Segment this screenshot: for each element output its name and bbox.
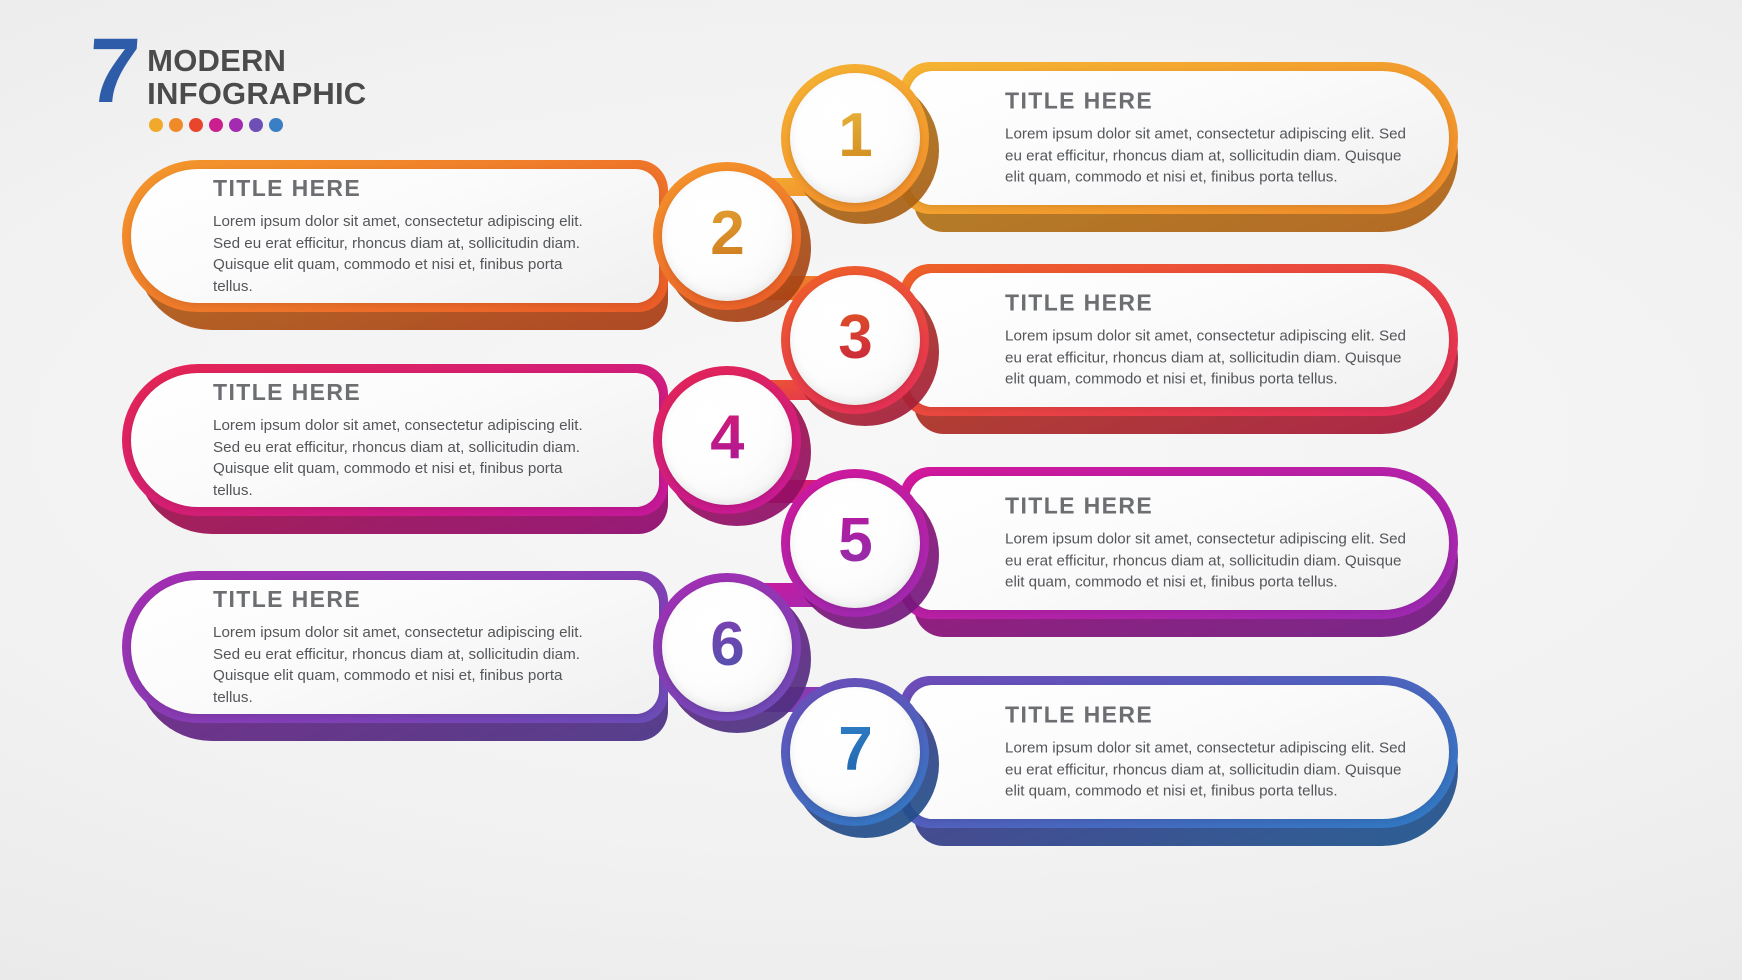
card-inner-panel: TITLE HERELorem ipsum dolor sit amet, co… xyxy=(131,169,659,303)
card-inner-panel: TITLE HERELorem ipsum dolor sit amet, co… xyxy=(131,580,659,714)
card-title: TITLE HERE xyxy=(1005,290,1407,317)
card-title: TITLE HERE xyxy=(213,175,589,202)
info-card-6[interactable]: TITLE HERELorem ipsum dolor sit amet, co… xyxy=(122,571,668,723)
card-body: TITLE HERELorem ipsum dolor sit amet, co… xyxy=(1005,702,1407,803)
step-node-2[interactable]: 2 xyxy=(653,162,801,310)
step-number-6: 6 xyxy=(710,614,743,676)
node-core: 5 xyxy=(790,478,920,608)
infographic-stage: TITLE HERELorem ipsum dolor sit amet, co… xyxy=(0,0,1742,980)
step-node-7[interactable]: 7 xyxy=(781,678,929,826)
card-body: TITLE HERELorem ipsum dolor sit amet, co… xyxy=(213,175,589,297)
card-body: TITLE HERELorem ipsum dolor sit amet, co… xyxy=(1005,493,1407,594)
step-number-2: 2 xyxy=(710,203,743,265)
card-body: TITLE HERELorem ipsum dolor sit amet, co… xyxy=(213,586,589,708)
info-card-1[interactable]: TITLE HERELorem ipsum dolor sit amet, co… xyxy=(900,62,1458,214)
step-number-3: 3 xyxy=(838,307,871,369)
card-description: Lorem ipsum dolor sit amet, consectetur … xyxy=(1005,738,1407,803)
card-description: Lorem ipsum dolor sit amet, consectetur … xyxy=(1005,529,1407,594)
step-number-7: 7 xyxy=(838,719,871,781)
info-card-2[interactable]: TITLE HERELorem ipsum dolor sit amet, co… xyxy=(122,160,668,312)
node-core: 6 xyxy=(662,582,792,712)
card-title: TITLE HERE xyxy=(1005,702,1407,729)
node-core: 2 xyxy=(662,171,792,301)
step-number-4: 4 xyxy=(710,407,743,469)
info-card-7[interactable]: TITLE HERELorem ipsum dolor sit amet, co… xyxy=(900,676,1458,828)
step-number-1: 1 xyxy=(838,105,871,167)
step-node-1[interactable]: 1 xyxy=(781,64,929,212)
card-description: Lorem ipsum dolor sit amet, consectetur … xyxy=(213,415,589,501)
node-core: 4 xyxy=(662,375,792,505)
info-card-5[interactable]: TITLE HERELorem ipsum dolor sit amet, co… xyxy=(900,467,1458,619)
card-inner-panel: TITLE HERELorem ipsum dolor sit amet, co… xyxy=(131,373,659,507)
info-card-4[interactable]: TITLE HERELorem ipsum dolor sit amet, co… xyxy=(122,364,668,516)
step-node-5[interactable]: 5 xyxy=(781,469,929,617)
step-node-6[interactable]: 6 xyxy=(653,573,801,721)
card-body: TITLE HERELorem ipsum dolor sit amet, co… xyxy=(1005,88,1407,189)
card-title: TITLE HERE xyxy=(1005,88,1407,115)
card-inner-panel: TITLE HERELorem ipsum dolor sit amet, co… xyxy=(909,476,1449,610)
node-core: 3 xyxy=(790,275,920,405)
step-node-4[interactable]: 4 xyxy=(653,366,801,514)
info-card-3[interactable]: TITLE HERELorem ipsum dolor sit amet, co… xyxy=(900,264,1458,416)
node-core: 7 xyxy=(790,687,920,817)
card-inner-panel: TITLE HERELorem ipsum dolor sit amet, co… xyxy=(909,273,1449,407)
step-node-3[interactable]: 3 xyxy=(781,266,929,414)
card-description: Lorem ipsum dolor sit amet, consectetur … xyxy=(1005,124,1407,189)
card-inner-panel: TITLE HERELorem ipsum dolor sit amet, co… xyxy=(909,685,1449,819)
card-body: TITLE HERELorem ipsum dolor sit amet, co… xyxy=(1005,290,1407,391)
card-description: Lorem ipsum dolor sit amet, consectetur … xyxy=(213,211,589,297)
card-title: TITLE HERE xyxy=(213,379,589,406)
node-core: 1 xyxy=(790,73,920,203)
card-title: TITLE HERE xyxy=(1005,493,1407,520)
card-body: TITLE HERELorem ipsum dolor sit amet, co… xyxy=(213,379,589,501)
card-inner-panel: TITLE HERELorem ipsum dolor sit amet, co… xyxy=(909,71,1449,205)
card-description: Lorem ipsum dolor sit amet, consectetur … xyxy=(1005,326,1407,391)
card-description: Lorem ipsum dolor sit amet, consectetur … xyxy=(213,622,589,708)
step-number-5: 5 xyxy=(838,510,871,572)
card-title: TITLE HERE xyxy=(213,586,589,613)
